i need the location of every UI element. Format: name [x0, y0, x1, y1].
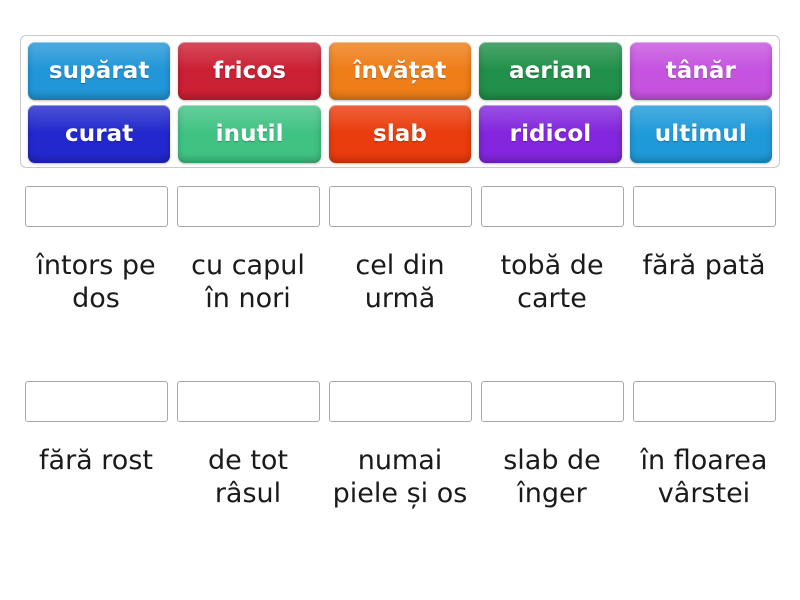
word-tile-suparat[interactable]: supărat	[28, 42, 170, 100]
answer-label: tobă de carte	[480, 250, 625, 316]
word-tile-aerian[interactable]: aerian	[479, 42, 621, 100]
word-tile-label: curat	[65, 123, 133, 146]
word-tile-label: ultimul	[655, 123, 747, 146]
drop-box[interactable]	[177, 186, 320, 227]
word-tile-label: fricos	[213, 60, 286, 83]
answer-cell: tobă de carte	[476, 186, 628, 316]
drop-box[interactable]	[25, 186, 168, 227]
answer-label: fără pată	[632, 250, 777, 283]
answer-cell: în floarea vârstei	[628, 381, 780, 511]
drop-box[interactable]	[633, 381, 776, 422]
drop-box[interactable]	[329, 381, 472, 422]
answer-cell: cel din urmă	[324, 186, 476, 316]
answer-label: numai piele și os	[328, 445, 473, 511]
answer-cell: slab de înger	[476, 381, 628, 511]
word-tile-label: aerian	[509, 60, 592, 83]
answer-label: cu capul în nori	[176, 250, 321, 316]
answer-cell: fără pată	[628, 186, 780, 316]
word-tile-label: ridicol	[510, 123, 592, 146]
answer-cell: cu capul în nori	[172, 186, 324, 316]
word-tile-inutil[interactable]: inutil	[178, 105, 320, 163]
answer-label: cel din urmă	[328, 250, 473, 316]
answer-cell: întors pe dos	[20, 186, 172, 316]
word-bank-row-1: supărat fricos învățat aerian tânăr	[28, 42, 772, 100]
drop-box[interactable]	[177, 381, 320, 422]
word-tile-label: învățat	[354, 60, 447, 83]
answer-row-2: fără rost de tot râsul numai piele și os…	[20, 381, 780, 511]
word-tile-tanar[interactable]: tânăr	[630, 42, 772, 100]
drop-box[interactable]	[481, 186, 624, 227]
answer-label: întors pe dos	[24, 250, 169, 316]
answer-label: în floarea vârstei	[632, 445, 777, 511]
word-bank-row-2: curat inutil slab ridicol ultimul	[28, 105, 772, 163]
drop-box[interactable]	[481, 381, 624, 422]
word-bank-panel: supărat fricos învățat aerian tânăr cura…	[20, 35, 780, 168]
word-tile-curat[interactable]: curat	[28, 105, 170, 163]
drop-box[interactable]	[633, 186, 776, 227]
word-tile-label: slab	[373, 123, 427, 146]
word-tile-label: inutil	[216, 123, 284, 146]
word-tile-label: tânăr	[666, 60, 736, 83]
word-tile-fricos[interactable]: fricos	[178, 42, 320, 100]
word-tile-label: supărat	[49, 60, 150, 83]
drop-box[interactable]	[25, 381, 168, 422]
answer-cell: numai piele și os	[324, 381, 476, 511]
word-tile-invatat[interactable]: învățat	[329, 42, 471, 100]
answer-row-1: întors pe dos cu capul în nori cel din u…	[20, 186, 780, 316]
answer-cell: de tot râsul	[172, 381, 324, 511]
answer-label: slab de înger	[480, 445, 625, 511]
word-tile-slab[interactable]: slab	[329, 105, 471, 163]
answer-cell: fără rost	[20, 381, 172, 511]
drop-box[interactable]	[329, 186, 472, 227]
answer-label: fără rost	[24, 445, 169, 478]
answer-label: de tot râsul	[176, 445, 321, 511]
word-tile-ultimul[interactable]: ultimul	[630, 105, 772, 163]
word-tile-ridicol[interactable]: ridicol	[479, 105, 621, 163]
